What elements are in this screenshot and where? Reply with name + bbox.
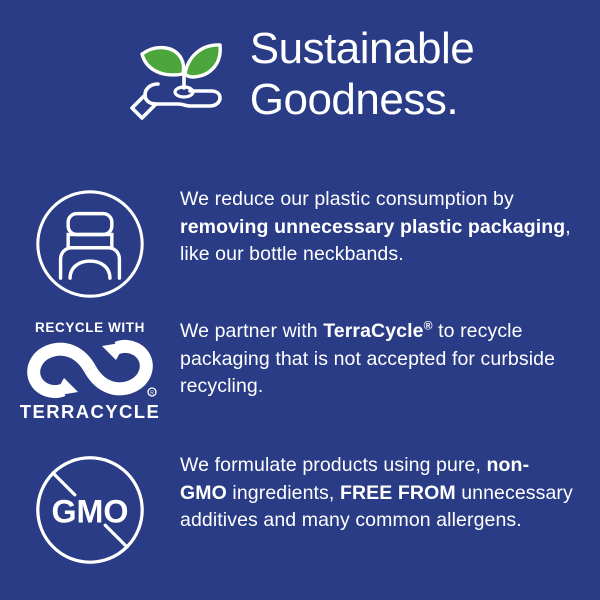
feature-row-non-gmo: GMO We formulate products using pure, no… (0, 452, 600, 566)
terracycle-logo-top-label: RECYCLE WITH (35, 320, 145, 335)
feature-text-non-gmo: We formulate products using pure, non-GM… (180, 452, 600, 535)
sustainable-goodness-panel: Sustainable Goodness. We reduce our plas… (0, 0, 600, 600)
page-title: Sustainable Goodness. (250, 27, 474, 122)
text-segment-bold: TerraCycle (323, 320, 423, 342)
text-segment: We partner with (180, 320, 323, 342)
terracycle-logo: RECYCLE WITH R TERRACYCLE (0, 318, 180, 423)
svg-text:R: R (150, 391, 154, 397)
terracycle-logo-bottom-label: TERRACYCLE (20, 401, 160, 423)
title-line-1: Sustainable (250, 27, 474, 71)
header: Sustainable Goodness. (0, 22, 600, 126)
registered-mark: ® (424, 319, 433, 333)
feature-row-plastic-reduction: We reduce our plastic consumption by rem… (0, 186, 600, 300)
title-line-2: Goodness. (250, 78, 474, 122)
feature-text-plastic-reduction: We reduce our plastic consumption by rem… (180, 186, 600, 269)
text-segment: We formulate products using pure, (180, 454, 487, 476)
text-segment: ingredients, (227, 482, 340, 504)
text-segment-bold: FREE FROM (340, 482, 456, 504)
hand-holding-sprout-icon (126, 26, 234, 126)
no-gmo-label: GMO (51, 493, 128, 529)
infinity-recycle-arrows-icon: R (20, 338, 160, 400)
feature-text-terracycle: We partner with TerraCycle® to recycle p… (180, 318, 600, 401)
feature-row-terracycle: RECYCLE WITH R TERRACYCLE We partner wit… (0, 318, 600, 423)
no-gmo-circle-icon: GMO (0, 452, 180, 566)
bottle-neckband-circle-icon (0, 186, 180, 300)
text-segment-bold: removing unnecessary plastic packaging (180, 216, 565, 238)
text-segment: We reduce our plastic consumption by (180, 188, 514, 210)
